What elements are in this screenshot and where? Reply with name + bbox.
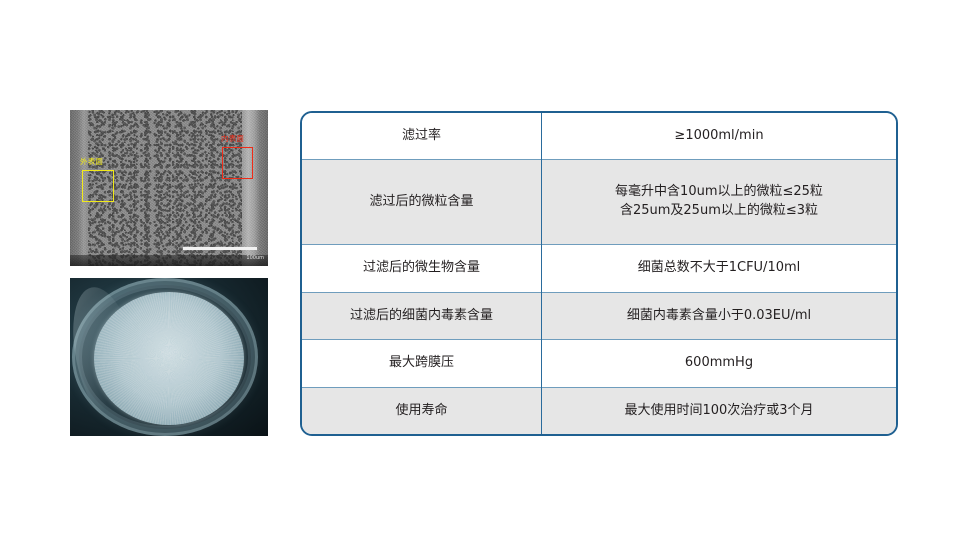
spec-value-line: 细菌总数不大于1CFU/10ml — [548, 259, 890, 278]
culture-dish-image — [70, 278, 268, 436]
spec-label-cell: 滤过后的微粒含量 — [302, 160, 542, 245]
sem-info-strip — [70, 255, 268, 266]
spec-value-cell: 细菌总数不大于1CFU/10ml — [542, 245, 897, 293]
table-row: 使用寿命最大使用时间100次治疗或3个月 — [302, 387, 896, 434]
spec-value-cell: 每毫升中含10um以上的微粒≤25粒含25um及25um以上的微粒≤3粒 — [542, 160, 897, 245]
spec-label-cell: 过滤后的微生物含量 — [302, 245, 542, 293]
table-row: 滤过后的微粒含量每毫升中含10um以上的微粒≤25粒含25um及25um以上的微… — [302, 160, 896, 245]
table-row: 最大跨膜压600mmHg — [302, 340, 896, 388]
table-row: 过滤后的微生物含量细菌总数不大于1CFU/10ml — [302, 245, 896, 293]
annotation-box-inner-surface — [222, 147, 253, 179]
sem-scale-bar — [183, 247, 257, 250]
spec-value-line: 最大使用时间100次治疗或3个月 — [548, 402, 890, 421]
membrane-cross-section-sem-image: 外表面 内表面 100um — [70, 110, 268, 266]
annotation-label-outer-surface: 外表面 — [80, 158, 103, 166]
table-row: 过滤后的细菌内毒素含量细菌内毒素含量小于0.03EU/ml — [302, 292, 896, 340]
specification-table: 滤过率≥1000ml/min滤过后的微粒含量每毫升中含10um以上的微粒≤25粒… — [300, 111, 898, 436]
spec-label-cell: 过滤后的细菌内毒素含量 — [302, 292, 542, 340]
spec-value-cell: 600mmHg — [542, 340, 897, 388]
sem-scale-bar-label: 100um — [246, 255, 264, 261]
spec-value-line: 每毫升中含10um以上的微粒≤25粒 — [548, 183, 890, 202]
spec-label-cell: 最大跨膜压 — [302, 340, 542, 388]
spec-value-line: 细菌内毒素含量小于0.03EU/ml — [548, 307, 890, 326]
spec-label-cell: 使用寿命 — [302, 387, 542, 434]
spec-value-cell: 细菌内毒素含量小于0.03EU/ml — [542, 292, 897, 340]
table-row: 滤过率≥1000ml/min — [302, 113, 896, 160]
spec-value-line: ≥1000ml/min — [548, 127, 890, 146]
spec-value-cell: 最大使用时间100次治疗或3个月 — [542, 387, 897, 434]
annotation-label-inner-surface: 内表面 — [221, 135, 244, 143]
spec-value-line: 含25um及25um以上的微粒≤3粒 — [548, 202, 890, 221]
spec-value-line: 600mmHg — [548, 354, 890, 373]
specification-table-grid: 滤过率≥1000ml/min滤过后的微粒含量每毫升中含10um以上的微粒≤25粒… — [302, 113, 896, 434]
annotation-box-outer-surface — [82, 170, 114, 202]
slide-canvas: 外表面 内表面 100um 滤过率≥1000ml/min滤过后的微粒含量每毫升中… — [0, 0, 971, 547]
spec-label-cell: 滤过率 — [302, 113, 542, 160]
spec-value-cell: ≥1000ml/min — [542, 113, 897, 160]
